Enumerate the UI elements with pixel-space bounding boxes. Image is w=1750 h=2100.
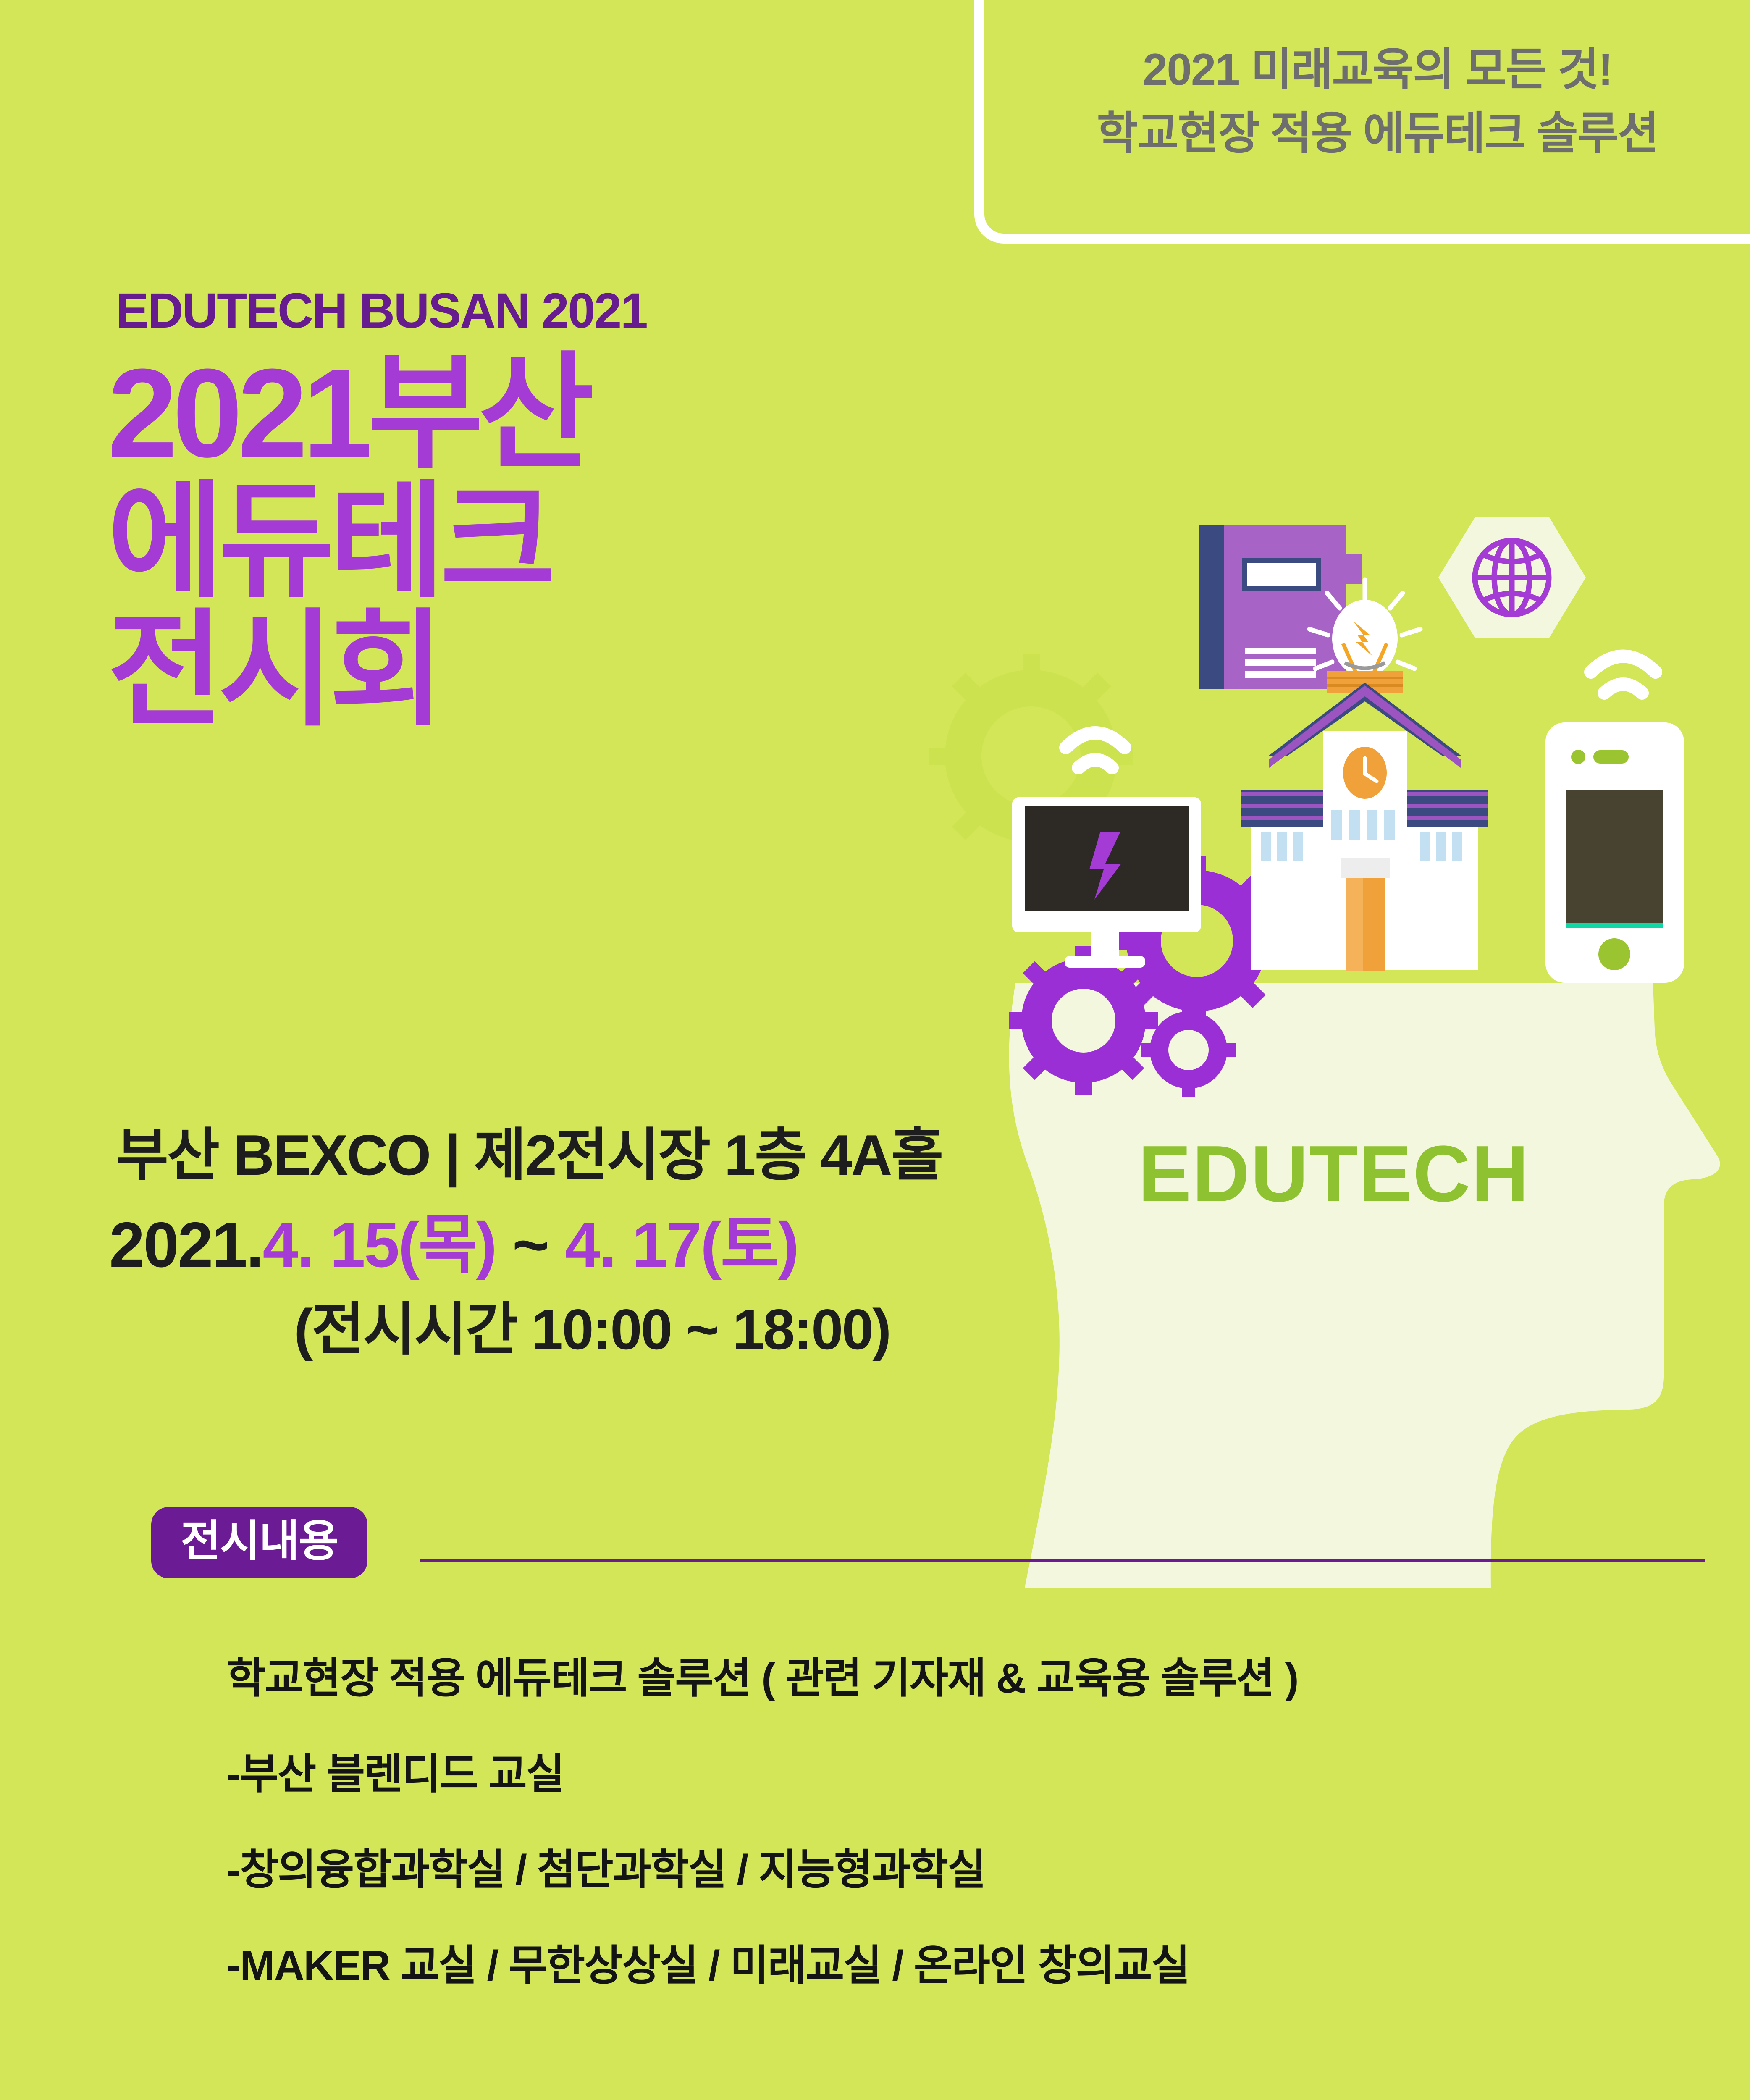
list-item: -부산 블렌디드 교실 (227, 1753, 1655, 1795)
banner-line-2: 학교현장 적용 에듀테크 솔루션 (1021, 102, 1734, 165)
school-building-icon (1241, 671, 1488, 971)
smartphone-icon (1545, 722, 1684, 983)
main-title: 2021부산 에듀테크 전시회 (108, 349, 589, 734)
list-item: 학교현장 적용 에듀테크 솔루션 ( 관련 기자재 & 교육용 솔루션 ) (227, 1657, 1655, 1699)
date-line: 2021.4. 15(목) ~ 4. 17(토) (109, 1193, 798, 1285)
main-title-line-2: 에듀테크 (108, 477, 589, 606)
hours-line: (전시시간 10:00 ~ 18:00) (294, 1283, 890, 1366)
eyebrow-title: EDUTECH BUSAN 2021 (116, 282, 647, 339)
section-rule (420, 1559, 1705, 1562)
main-title-line-1: 2021부산 (108, 349, 589, 477)
date-end: 4. 17(토) (565, 1209, 798, 1281)
banner-text: 2021 미래교육의 모든 것! 학교현장 적용 에듀테크 솔루션 (1021, 38, 1734, 165)
date-separator: ~ (496, 1209, 565, 1281)
globe-hexagon-icon (1438, 517, 1586, 638)
exhibition-list: 학교현장 적용 에듀테크 솔루션 ( 관련 기자재 & 교육용 솔루션 ) -부… (210, 1657, 1655, 2040)
date-prefix: 2021. (109, 1209, 262, 1281)
list-item: -창의융합과학실 / 첨단과학실 / 지능형과학실 (227, 1849, 1655, 1891)
date-start: 4. 15(목) (262, 1209, 496, 1281)
edutech-word: EDUTECH (1138, 1129, 1530, 1218)
venue-line: 부산 BEXCO | 제2전시장 1층 4A홀 (116, 1109, 942, 1192)
main-title-line-3: 전시회 (108, 606, 589, 734)
edutech-illustration: EDUTECH (903, 496, 1750, 1588)
poster-canvas: 2021 미래교육의 모든 것! 학교현장 적용 에듀테크 솔루션 EDUTEC… (0, 0, 1750, 2100)
section-badge: 전시내용 (151, 1507, 367, 1578)
monitor-icon (1012, 797, 1201, 968)
list-item: -MAKER 교실 / 무한상상실 / 미래교실 / 온라인 창의교실 (227, 1945, 1655, 1987)
wifi-right-icon (1591, 656, 1656, 693)
banner-line-1: 2021 미래교육의 모든 것! (1021, 38, 1734, 102)
